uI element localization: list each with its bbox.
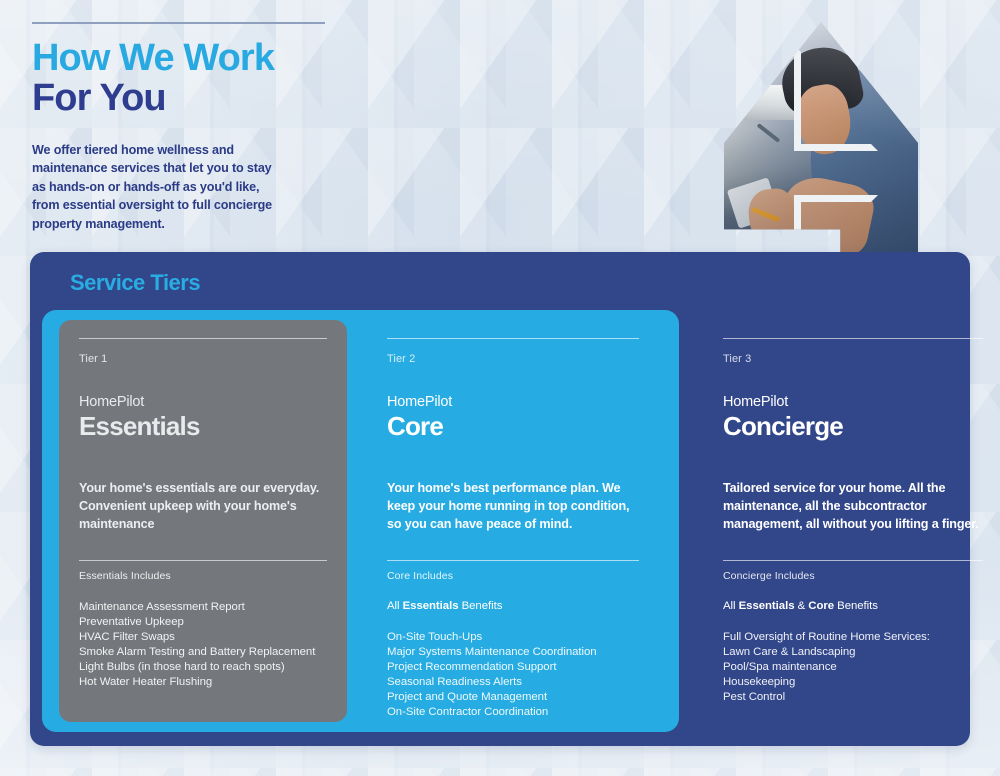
- tier-feature-item: Pest Control: [723, 690, 983, 705]
- tier-feature-item: On-Site Touch-Ups: [387, 630, 639, 645]
- tier-plan-name: Core: [387, 412, 639, 441]
- header-divider: [32, 22, 325, 24]
- card-includes-divider: [79, 560, 327, 561]
- tier-includes-label: Essentials Includes: [79, 570, 327, 582]
- tier-label: Tier 2: [387, 353, 639, 365]
- tier-description: Your home's essentials are our everyday.…: [79, 480, 327, 534]
- page-root: How We Work For You We offer tiered home…: [0, 0, 1000, 776]
- tier-card-essentials[interactable]: Tier 1 HomePilot Essentials Your home's …: [59, 320, 347, 722]
- tier-feature-item: Project Recommendation Support: [387, 660, 639, 675]
- tier-card-concierge[interactable]: Tier 3 HomePilot Concierge Tailored serv…: [723, 320, 1000, 722]
- tier-includes-label: Core Includes: [387, 570, 639, 582]
- panel-title: Service Tiers: [70, 270, 200, 296]
- tier-feature-list: Full Oversight of Routine Home Services:…: [723, 630, 983, 705]
- tier-inherited-benefits: All Essentials Benefits: [387, 600, 639, 612]
- tier-feature-item: Smoke Alarm Testing and Battery Replacem…: [79, 645, 327, 660]
- intro-paragraph: We offer tiered home wellness and mainte…: [32, 141, 287, 234]
- tier-feature-item: Major Systems Maintenance Coordination: [387, 645, 639, 660]
- tier-feature-item: Light Bulbs (in those hard to reach spot…: [79, 660, 327, 675]
- tier-feature-item: Pool/Spa maintenance: [723, 660, 983, 675]
- tier-feature-item: Seasonal Readiness Alerts: [387, 675, 639, 690]
- card-top-divider: [723, 338, 983, 339]
- tier-plan-name: Concierge: [723, 412, 983, 441]
- tier-feature-item: On-Site Contractor Coordination: [387, 705, 639, 720]
- tier-feature-item: Full Oversight of Routine Home Services:: [723, 630, 983, 645]
- tier-feature-list: On-Site Touch-UpsMajor Systems Maintenan…: [387, 630, 639, 720]
- tier-feature-item: Hot Water Heater Flushing: [79, 675, 327, 690]
- tier-feature-item: Lawn Care & Landscaping: [723, 645, 983, 660]
- page-title-line1: How We Work: [32, 38, 372, 78]
- card-includes-divider: [723, 560, 983, 561]
- tier-feature-item: Housekeeping: [723, 675, 983, 690]
- card-includes-divider: [387, 560, 639, 561]
- tier-feature-list: Maintenance Assessment ReportPreventativ…: [79, 600, 327, 690]
- tier-description: Tailored service for your home. All the …: [723, 480, 983, 534]
- page-title-line2: For You: [32, 78, 372, 118]
- tier-feature-item: Project and Quote Management: [387, 690, 639, 705]
- tier-inherited-benefits: All Essentials & Core Benefits: [723, 600, 983, 612]
- card-top-divider: [387, 338, 639, 339]
- header-block: How We Work For You We offer tiered home…: [32, 22, 372, 234]
- tier-label: Tier 1: [79, 353, 327, 365]
- card-top-divider: [79, 338, 327, 339]
- tier-card-core[interactable]: Tier 2 HomePilot Core Your home's best p…: [367, 320, 659, 722]
- tier-brand: HomePilot: [79, 395, 327, 411]
- service-tiers-panel: Service Tiers Tier 1 HomePilot Essential…: [30, 252, 970, 746]
- tier-includes-label: Concierge Includes: [723, 570, 983, 582]
- tier-plan-name: Essentials: [79, 412, 327, 441]
- tier-feature-item: Preventative Upkeep: [79, 615, 327, 630]
- tier-feature-item: HVAC Filter Swaps: [79, 630, 327, 645]
- tier-brand: HomePilot: [723, 395, 983, 411]
- tier-description: Your home's best performance plan. We ke…: [387, 480, 639, 534]
- cyan-subpanel: Tier 1 HomePilot Essentials Your home's …: [42, 310, 679, 732]
- tier-brand: HomePilot: [387, 395, 639, 411]
- tier-label: Tier 3: [723, 353, 983, 365]
- tier-feature-item: Maintenance Assessment Report: [79, 600, 327, 615]
